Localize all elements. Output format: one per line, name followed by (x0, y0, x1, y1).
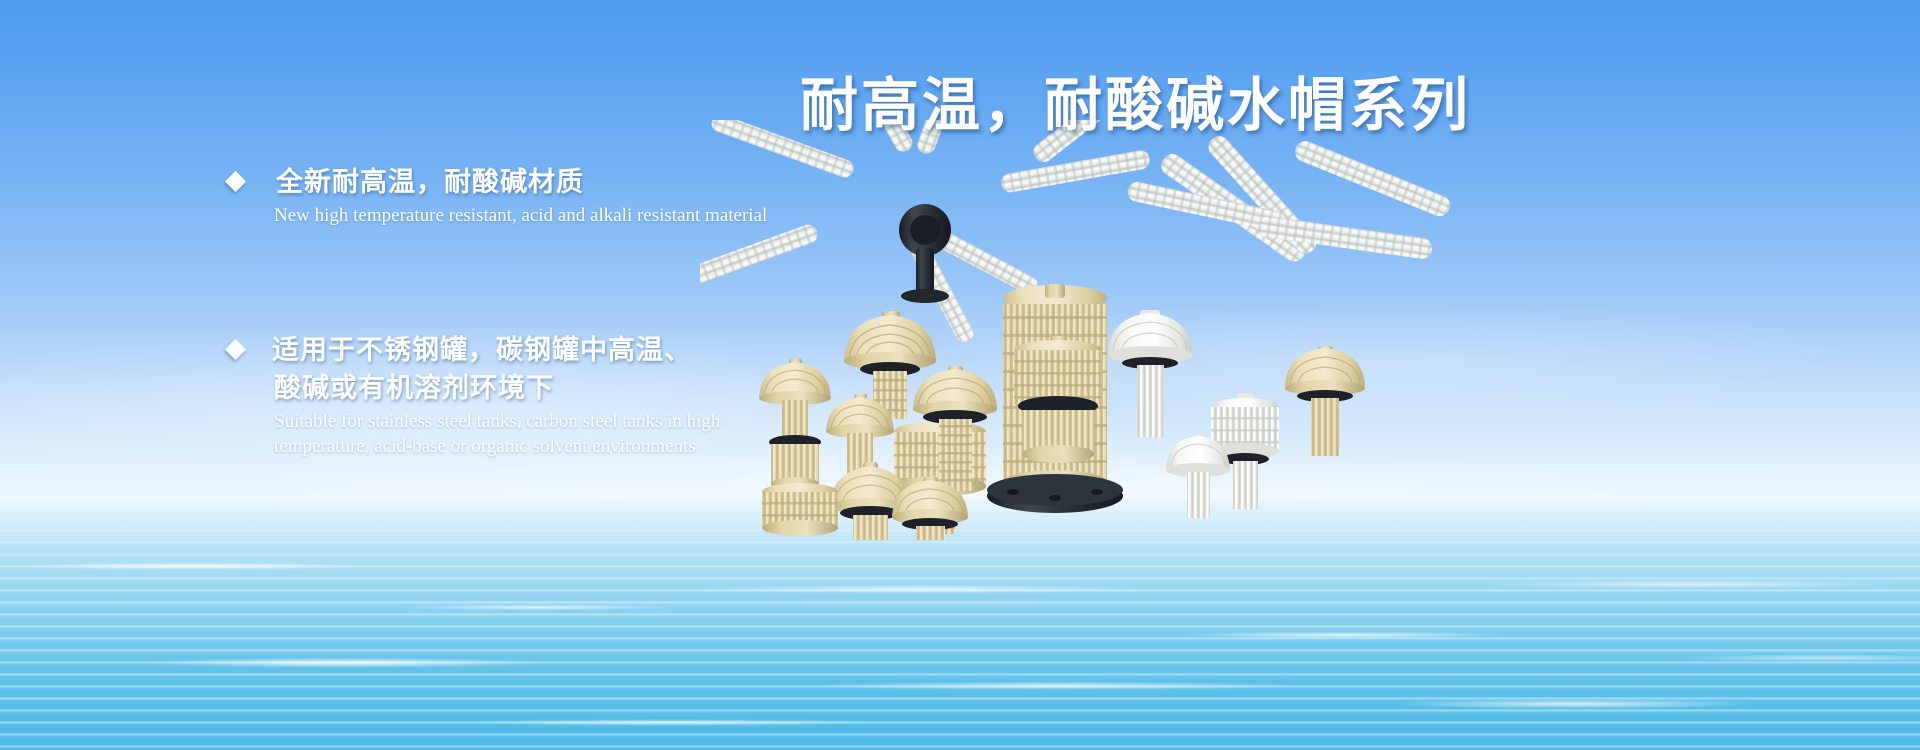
threaded-stem (939, 419, 972, 491)
page-title: 耐高温，耐酸碱水帽系列 (800, 58, 1471, 142)
water-highlight-streaks (0, 520, 1920, 750)
bullet-2-en-block: Suitable for stainless steel tanks, carb… (274, 409, 888, 459)
bullet-2-cn-line-2: 酸碱或有机溶剂环境下 (274, 370, 888, 408)
feature-bullet-1: 全新耐高温，耐酸碱材质 New high temperature resista… (228, 164, 888, 228)
corrugated-riser-tube-right (1126, 132, 1453, 266)
feature-bullet-2: 适用于不锈钢罐，碳钢罐中高温、 酸碱或有机溶剂环境下 Suitable for … (228, 332, 888, 459)
bullet-1-en-block: New high temperature resistant, acid and… (274, 203, 888, 228)
bullet-2-en-line-2: temperature, acid-base or organic solven… (274, 434, 888, 459)
bullet-2-en-line-1: Suitable for stainless steel tanks, carb… (274, 409, 888, 434)
feature-bullet-list: 全新耐高温，耐酸碱材质 New high temperature resista… (228, 164, 888, 459)
bullet-1-cn-line-1: 全新耐高温，耐酸碱材质 (276, 164, 888, 202)
product-banner: 耐高温，耐酸碱水帽系列 全新耐高温，耐酸碱材质 New high tempera… (0, 0, 1920, 750)
bullet-1-en-line-1: New high temperature resistant, acid and… (274, 203, 888, 228)
ribbed-dome-cap-far-right (1285, 346, 1365, 456)
stacked-disc-nozzle-right (1014, 336, 1102, 463)
diamond-bullet-icon (225, 171, 246, 192)
bullet-2-cn-line-1: 适用于不锈钢罐，碳钢罐中高温、 (272, 332, 888, 370)
white-ribbed-dome-cap (1108, 310, 1192, 437)
diamond-bullet-icon (225, 339, 246, 360)
white-dome-cap-bottom (1166, 435, 1230, 518)
stacked-disc-nozzle-front-left (762, 483, 838, 536)
